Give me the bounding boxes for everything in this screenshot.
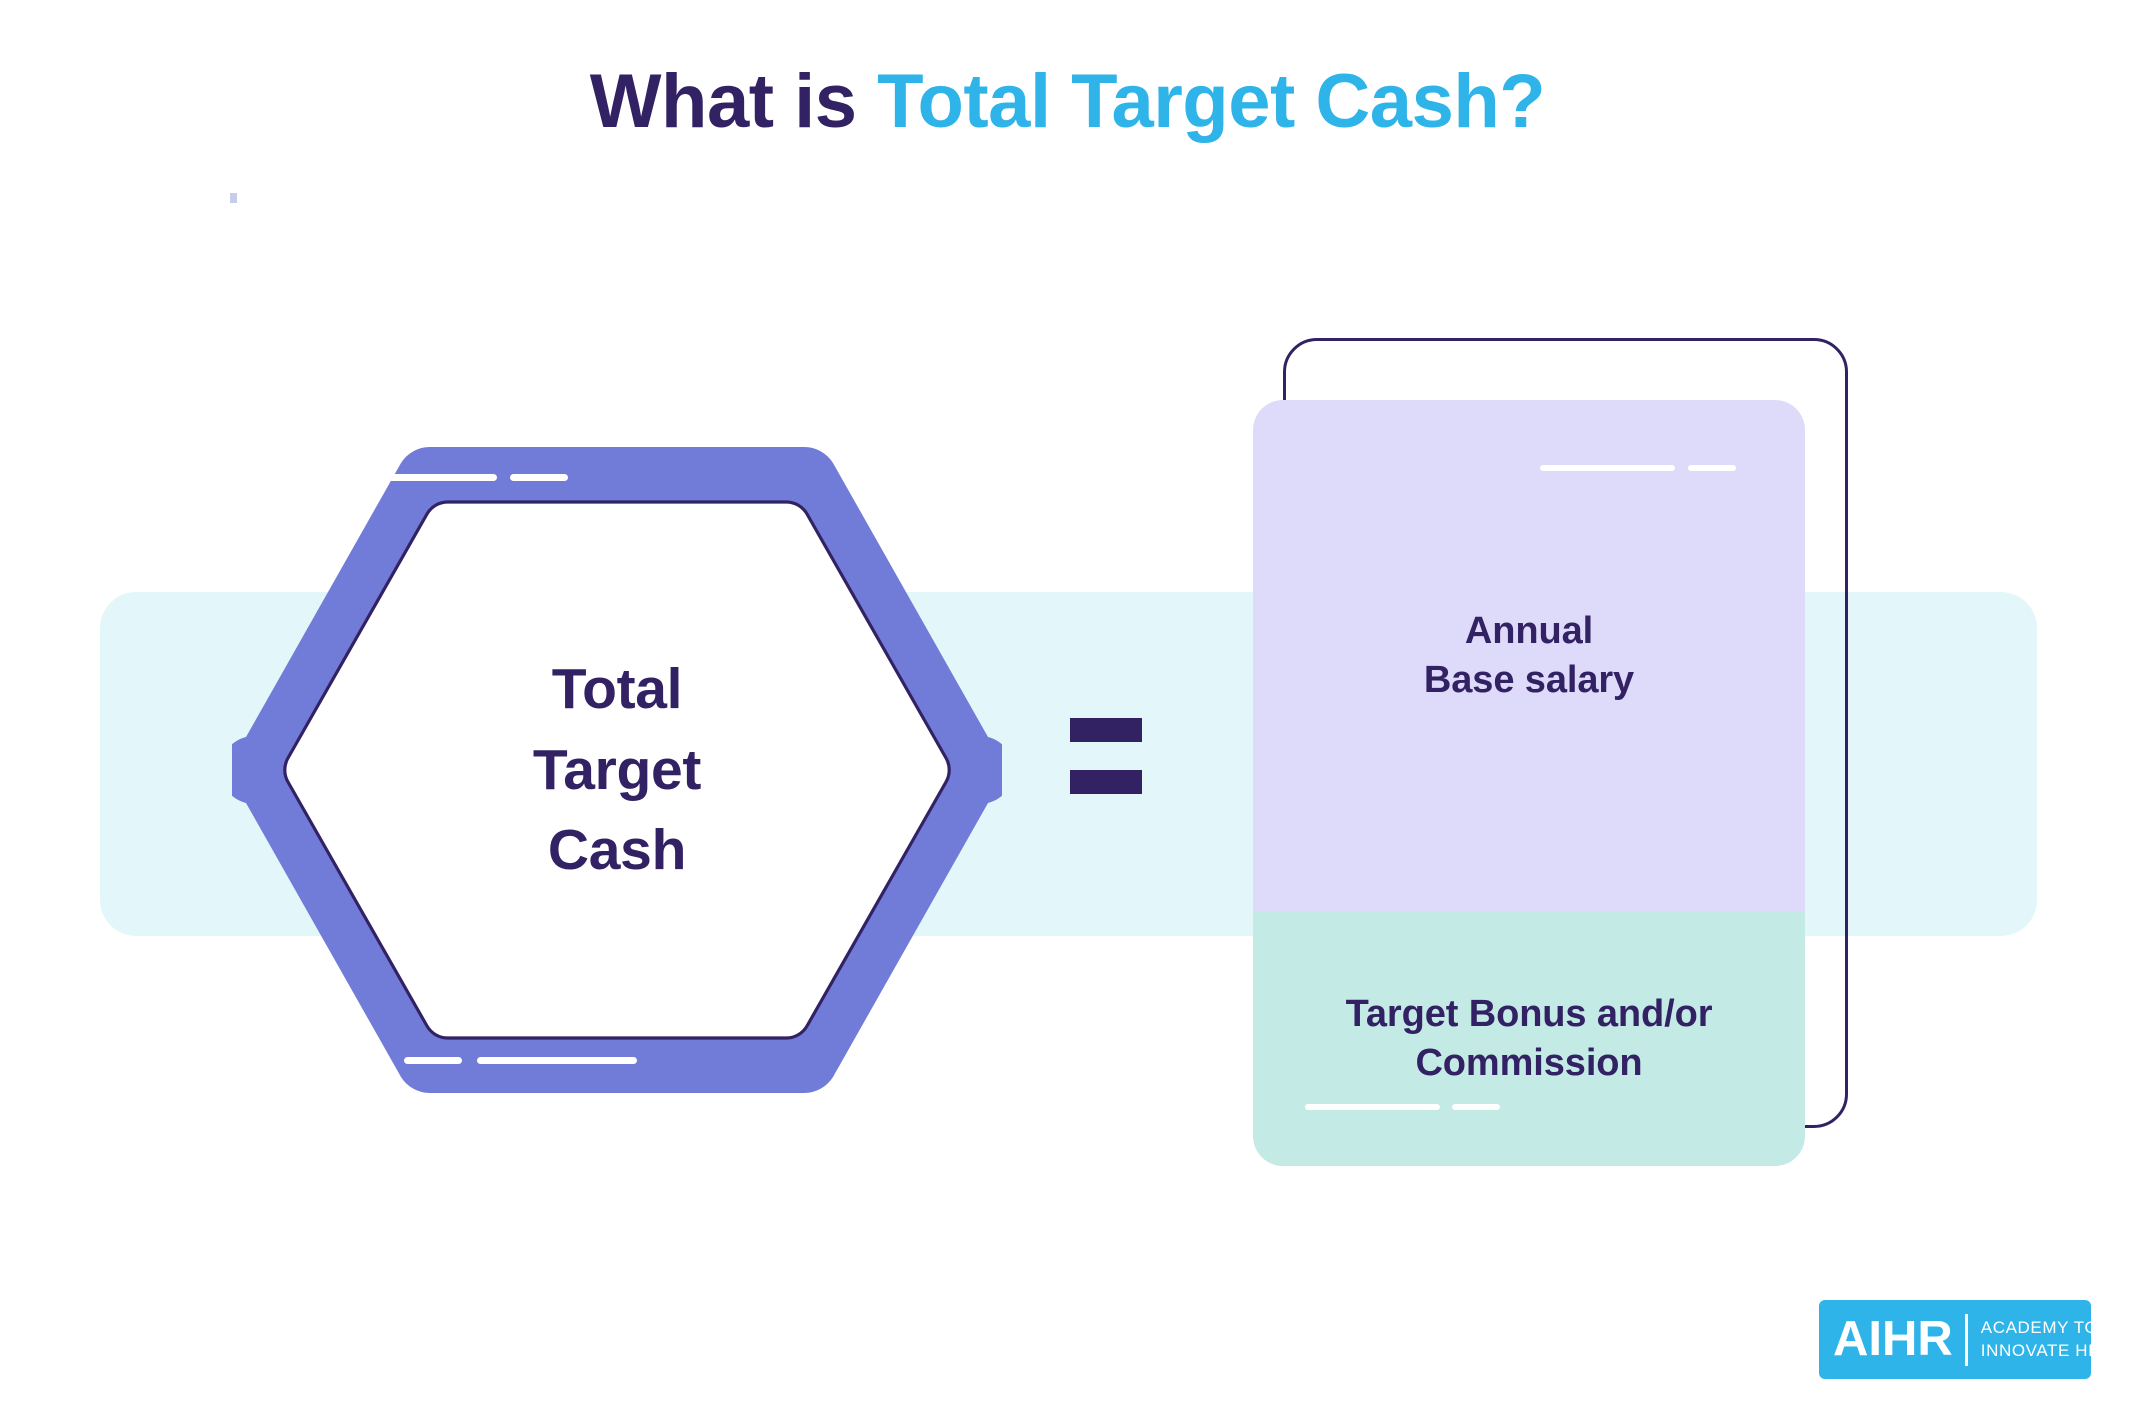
card-bottom-dash-short-icon [1452,1104,1500,1110]
card-top-dash-short-icon [1688,465,1736,471]
equals-sign-icon [1070,718,1142,794]
hexagon-bottom-dashes-icon [404,1057,637,1064]
infographic-canvas: What is Total Target Cash? [0,0,2135,1417]
card-segment-base-salary-line1: Annual [1424,607,1634,656]
card-segment-bonus-commission-line2: Commission [1346,1039,1713,1088]
card-body: Annual Base salary Target Bonus and/or C… [1253,400,1805,1166]
card-segment-bonus-commission-line1: Target Bonus and/or [1346,990,1713,1039]
hexagon-top-dashes-icon [337,474,568,481]
card-bottom-dash-long-icon [1305,1104,1440,1110]
aihr-logo-tagline: ACADEMY TO INNOVATE HR [1981,1317,2101,1362]
page-title-lead: What is [590,59,877,144]
aihr-logo-divider [1965,1314,1968,1366]
card-segment-base-salary-label: Annual Base salary [1424,607,1634,704]
card-segment-bonus-commission: Target Bonus and/or Commission [1253,912,1805,1166]
card-top-dash-long-icon [1540,465,1675,471]
aihr-logo-tagline-line2: INNOVATE HR [1981,1341,2101,1360]
equals-bar-top [1070,718,1142,742]
aihr-logo: AIHR ACADEMY TO INNOVATE HR [1819,1300,2091,1379]
equals-bar-bottom [1070,770,1142,794]
aihr-logo-tagline-line1: ACADEMY TO [1981,1318,2098,1337]
components-card: Annual Base salary Target Bonus and/or C… [1253,338,1863,1173]
card-segment-bonus-commission-label: Target Bonus and/or Commission [1346,990,1713,1087]
aihr-logo-mark: AIHR [1833,1315,1953,1364]
hexagon-shape-icon [232,425,1002,1115]
card-segment-base-salary: Annual Base salary [1253,400,1805,912]
stray-mark-icon [230,193,237,203]
page-title-highlight: Total Target Cash? [877,59,1545,144]
hexagon-badge: Total Target Cash [232,425,1002,1115]
card-segment-base-salary-line2: Base salary [1424,656,1634,705]
page-title: What is Total Target Cash? [0,62,2135,142]
